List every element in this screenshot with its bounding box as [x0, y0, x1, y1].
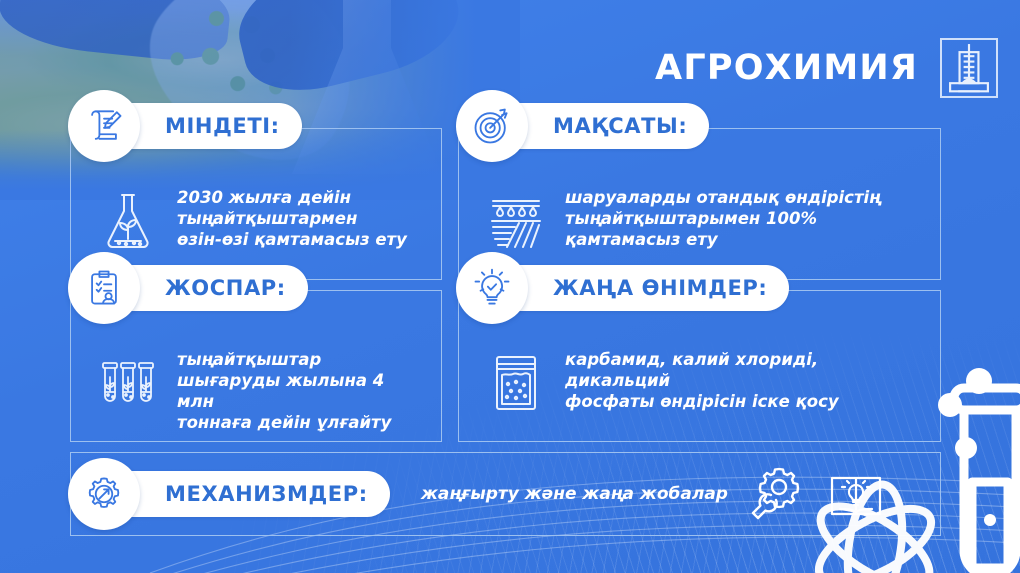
card-zhospar-text: тыңайтқыштар шығаруды жылына 4 млн тонна… — [177, 349, 423, 433]
clipboard-checklist-person-icon — [68, 252, 140, 324]
card-mindeti-text-line: тыңайтқыштармен — [177, 208, 407, 229]
card-maqsaty-label: МАҚСАТЫ: — [553, 116, 687, 137]
fertilizer-bag-icon — [485, 349, 547, 419]
card-zhana-onimder-label: ЖАҢА ӨНІМДЕР: — [553, 278, 767, 299]
card-mindeti-body: 2030 жылға дейін тыңайтқыштармен өзін-өз… — [97, 187, 423, 257]
card-mehanizmder-label: МЕХАНИЗМДЕР: — [165, 484, 368, 505]
lightbulb-check-icon — [456, 252, 528, 324]
test-tubes-sprout-icon — [97, 349, 159, 419]
card-zhospar-label: ЖОСПАР: — [165, 278, 286, 299]
bubble — [955, 437, 977, 459]
card-zhana-onimder-text-line: карбамид, калий хлориді, дикальций — [565, 349, 922, 391]
page-title: АГРОХИМИЯ — [655, 51, 918, 86]
card-mindeti-label: МІНДЕТІ: — [165, 116, 280, 137]
card-zhana-onimder-label-pill: ЖАҢА ӨНІМДЕР: — [483, 265, 789, 311]
target-arrow-icon — [456, 90, 528, 162]
field-irrigation-icon — [485, 187, 547, 257]
card-maqsaty: МАҚСАТЫ: — [458, 128, 941, 280]
card-mindeti: МІНДЕТІ: — [70, 128, 442, 280]
card-zhana-onimder: ЖАҢА ӨНІМДЕР: — [458, 290, 941, 442]
card-maqsaty-body: шаруаларды отандық өндірістің тыңайтқышт… — [485, 187, 922, 257]
scroll-pencil-icon — [68, 90, 140, 162]
card-zhospar-text-line: тыңайтқыштар — [177, 349, 423, 370]
card-mehanizmder-text: жаңғырту және жаңа жобалар — [421, 484, 728, 504]
card-mindeti-text-line: 2030 жылға дейін — [177, 187, 407, 208]
card-zhospar-body: тыңайтқыштар шығаруды жылына 4 млн тонна… — [97, 349, 423, 433]
card-zhana-onimder-text-line: фосфаты өндірісін іске қосу — [565, 391, 922, 412]
card-mindeti-text-line: өзін-өзі қамтамасыз ету — [177, 229, 407, 250]
card-zhana-onimder-body: карбамид, калий хлориді, дикальций фосфа… — [485, 349, 922, 419]
card-zhospar-text-line: шығаруды жылына 4 млн — [177, 370, 423, 412]
card-maqsaty-text-line: қамтамасыз ету — [565, 229, 881, 250]
card-maqsaty-text-line: шаруаларды отандық өндірістің — [565, 187, 881, 208]
card-maqsaty-text: шаруаларды отандық өндірістің тыңайтқышт… — [565, 187, 881, 250]
flask-sprout-icon — [97, 187, 159, 257]
card-zhospar: ЖОСПАР: — [70, 290, 442, 442]
government-building-emblem-icon — [940, 38, 998, 98]
gear-arrow-icon — [68, 458, 140, 530]
infographic-slide: АГРОХИМИЯ МІНДЕТІ: — [0, 0, 1020, 573]
card-maqsaty-text-line: тыңайтқыштарымен 100% — [565, 208, 881, 229]
card-zhospar-text-line: тоннаға дейін ұлғайту — [177, 412, 423, 433]
header-title-group: АГРОХИМИЯ — [655, 38, 998, 98]
card-zhana-onimder-text: карбамид, калий хлориді, дикальций фосфа… — [565, 349, 922, 412]
bubble — [938, 393, 962, 417]
card-mindeti-text: 2030 жылға дейін тыңайтқыштармен өзін-өз… — [177, 187, 407, 250]
bubble — [966, 368, 992, 394]
